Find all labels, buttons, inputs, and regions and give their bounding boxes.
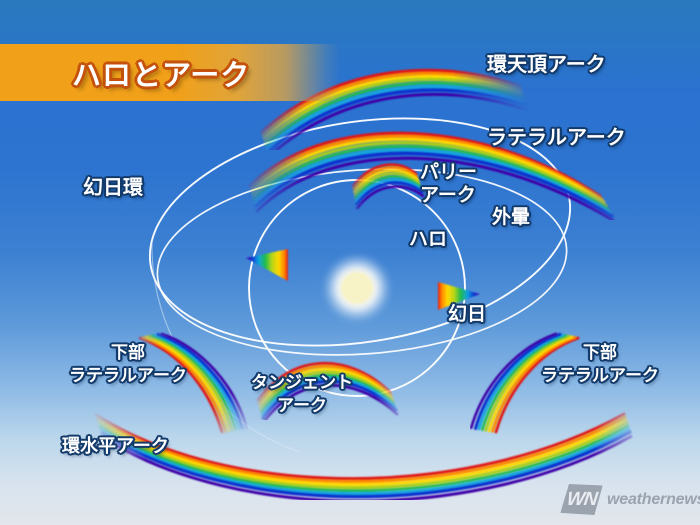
page-title: ハロとアーク xyxy=(72,52,250,94)
label-lower-lateral-arc-right-line2: ラテラルアーク xyxy=(520,367,680,385)
wn-mark-icon: WN xyxy=(560,484,603,515)
label-sundog: 幻日 xyxy=(448,305,486,326)
label-lower-lateral-arc-right-line1: 下部 xyxy=(520,344,680,362)
label-parry-arc-line2: アーク xyxy=(420,186,516,207)
label-lateral-arc: ラテラルアーク xyxy=(487,128,626,150)
weathernews-logo: WN weathernews xyxy=(563,484,700,515)
label-parhelic-circle: 幻日環 xyxy=(83,178,143,200)
logo-wordmark: weathernews xyxy=(607,491,700,509)
infographic-canvas: ハロとアーク 環天頂アーク ラテラルアーク パリー アーク 外暈 ハロ 幻日環 … xyxy=(0,0,700,525)
label-circumzenithal-arc: 環天頂アーク xyxy=(487,55,606,77)
label-parry-arc-line1: パリー xyxy=(420,163,516,184)
label-lower-lateral-arc-left-line2: ラテラルアーク xyxy=(48,367,208,385)
label-tangent-arc-line2: アーク xyxy=(232,397,372,415)
label-lower-lateral-arc-left-line1: 下部 xyxy=(48,344,208,362)
parry-arc xyxy=(353,165,423,208)
sun xyxy=(323,254,391,322)
circumhorizontal-arc xyxy=(96,414,631,501)
label-circumhorizontal-arc: 環水平アーク xyxy=(62,437,169,456)
label-halo: ハロ xyxy=(409,230,447,251)
wn-mark-text: WN xyxy=(565,489,597,511)
label-outer-halo: 外暈 xyxy=(492,208,530,229)
label-tangent-arc-line1: タンジェント xyxy=(232,374,372,392)
